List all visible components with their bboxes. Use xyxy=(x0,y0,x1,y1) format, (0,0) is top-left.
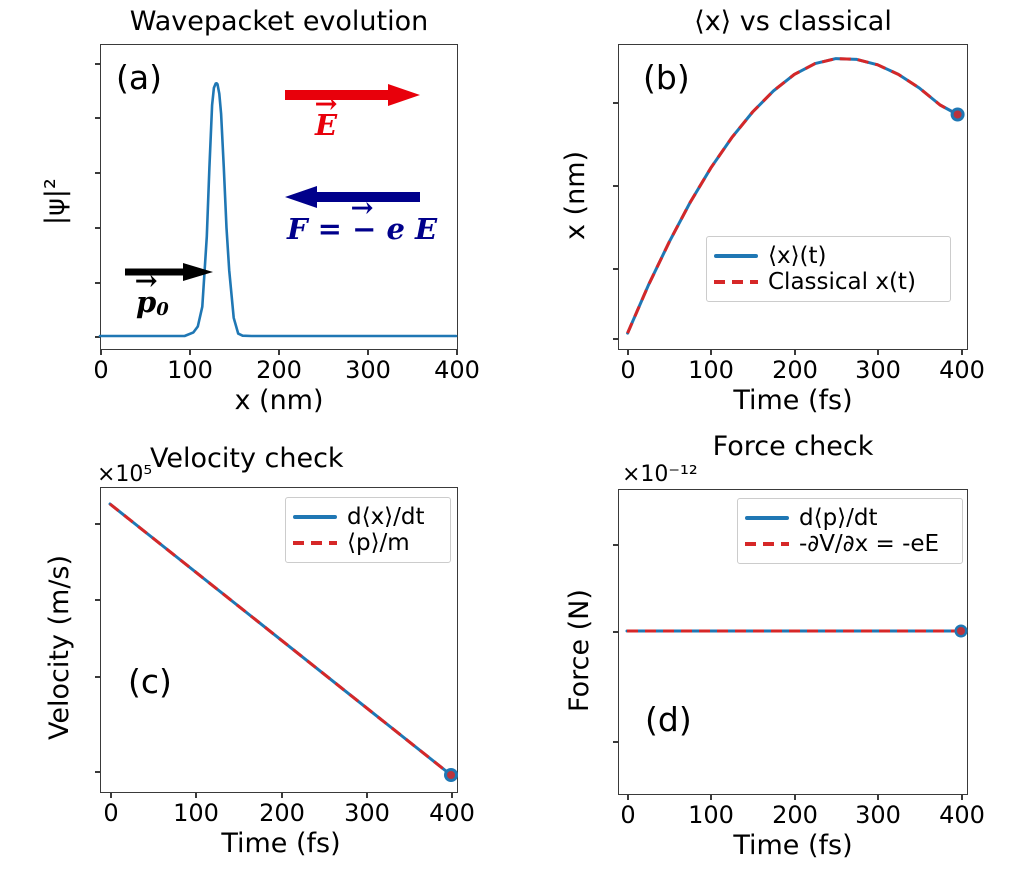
panel-a-tick-x0 xyxy=(100,350,102,355)
field-label: →E xyxy=(315,108,337,142)
legend-line-dashed-icon xyxy=(714,274,758,290)
panel-d-xtick-3: 300 xyxy=(855,801,901,829)
legend-line-solid-icon xyxy=(745,510,789,526)
panel-c-legend-row-1: ⟨p⟩/m xyxy=(293,530,441,556)
panel-c-legend-label-0: d⟨x⟩/dt xyxy=(347,506,425,529)
force-label: →F = − e E xyxy=(287,212,437,246)
figure-canvas: Wavepacket evolution (a) 0.0 0.2 0.4 0.6… xyxy=(0,0,1024,878)
panel-c-title: Velocity check xyxy=(150,443,450,474)
panel-a-ylabel: |ψ|² xyxy=(40,178,71,225)
momentum-label-subscript: 0 xyxy=(156,299,169,320)
panel-a-xtick-3: 300 xyxy=(345,356,391,384)
panel-b-legend[interactable]: ⟨x⟩(t) Classical x(t) xyxy=(706,236,951,302)
panel-c-legend-row-0: d⟨x⟩/dt xyxy=(293,504,441,530)
panel-c-xtick-1: 100 xyxy=(173,799,219,827)
panel-b-title: ⟨x⟩ vs classical xyxy=(618,6,968,37)
panel-c-tick-x0 xyxy=(110,793,112,798)
vector-arrow-icon: → xyxy=(351,195,374,223)
panel-b-legend-row-1: Classical x(t) xyxy=(714,269,941,295)
panel-d-tick-x0 xyxy=(627,795,629,800)
panel-b-xtick-1: 100 xyxy=(688,356,734,384)
panel-a-xtick-4: 400 xyxy=(434,356,480,384)
panel-b-curves xyxy=(618,44,968,350)
panel-c-tick-x1 xyxy=(195,793,197,798)
panel-d-xtick-1: 100 xyxy=(688,801,734,829)
panel-c-legend-label-1: ⟨p⟩/m xyxy=(347,532,410,555)
panel-b-xtick-4: 400 xyxy=(939,356,985,384)
panel-c-legend[interactable]: d⟨x⟩/dt ⟨p⟩/m xyxy=(285,497,451,563)
panel-c-xtick-2: 200 xyxy=(259,799,305,827)
field-arrow-icon xyxy=(285,82,425,108)
momentum-label: →p0 xyxy=(136,285,169,320)
legend-line-dashed-icon xyxy=(293,535,337,551)
panel-a-tick-x2 xyxy=(278,350,280,355)
panel-c-xtick-0: 0 xyxy=(103,799,118,827)
panel-b-xtick-0: 0 xyxy=(620,356,635,384)
panel-c-offset: ×10⁵ xyxy=(97,462,152,487)
panel-c-tick-x2 xyxy=(281,793,283,798)
panel-c-xlabel: Time (fs) xyxy=(221,828,340,859)
panel-c-ylabel: Velocity (m/s) xyxy=(44,555,75,740)
panel-b-xtick-3: 300 xyxy=(855,356,901,384)
panel-b-tick-x2 xyxy=(794,350,796,355)
panel-d-tick-x4 xyxy=(961,795,963,800)
panel-d-xtick-2: 200 xyxy=(772,801,818,829)
panel-d-legend-row-1: -∂V/∂x = -eE xyxy=(745,531,953,557)
legend-line-solid-icon xyxy=(293,509,337,525)
panel-a-xlabel: x (nm) xyxy=(234,385,323,416)
panel-a-xtick-0: 0 xyxy=(93,356,108,384)
panel-b-xlabel: Time (fs) xyxy=(733,385,852,416)
panel-b-legend-label-1: Classical x(t) xyxy=(768,271,916,294)
panel-d-ylabel: Force (N) xyxy=(564,589,595,712)
panel-a-xtick-1: 100 xyxy=(167,356,213,384)
panel-d-xlabel: Time (fs) xyxy=(733,830,852,861)
vector-arrow-icon: → xyxy=(135,268,158,296)
panel-d-title: Force check xyxy=(618,431,968,462)
panel-d-offset: ×10⁻¹² xyxy=(622,462,698,487)
panel-a-title: Wavepacket evolution xyxy=(100,6,458,37)
panel-b-xtick-2: 200 xyxy=(772,356,818,384)
panel-d-legend-label-0: d⟨p⟩/dt xyxy=(799,507,878,530)
panel-d-legend-row-0: d⟨p⟩/dt xyxy=(745,505,953,531)
panel-b-legend-label-0: ⟨x⟩(t) xyxy=(768,245,827,268)
panel-b-tick-x0 xyxy=(627,350,629,355)
legend-line-dashed-icon xyxy=(745,536,789,552)
panel-d-tick-x1 xyxy=(710,795,712,800)
panel-a-tick-x4 xyxy=(456,350,458,355)
panel-b-ylabel: x (nm) xyxy=(560,151,591,240)
panel-c-tick-x3 xyxy=(366,793,368,798)
panel-d-legend-label-1: -∂V/∂x = -eE xyxy=(799,533,939,556)
panel-c-tick-x4 xyxy=(451,793,453,798)
legend-line-solid-icon xyxy=(714,248,758,264)
panel-b-legend-row-0: ⟨x⟩(t) xyxy=(714,243,941,269)
panel-d-legend[interactable]: d⟨p⟩/dt -∂V/∂x = -eE xyxy=(737,498,963,564)
panel-a-tick-x3 xyxy=(367,350,369,355)
panel-b-tick-x1 xyxy=(710,350,712,355)
vector-arrow-icon: → xyxy=(315,91,338,119)
panel-a-tick-x1 xyxy=(189,350,191,355)
panel-d-tick-x2 xyxy=(794,795,796,800)
panel-b-tick-x3 xyxy=(877,350,879,355)
panel-c-xtick-4: 400 xyxy=(429,799,475,827)
panel-c-xtick-3: 300 xyxy=(344,799,390,827)
panel-d-xtick-0: 0 xyxy=(620,801,635,829)
panel-b-tick-x4 xyxy=(961,350,963,355)
panel-a-xtick-2: 200 xyxy=(256,356,302,384)
panel-d-tick-x3 xyxy=(877,795,879,800)
panel-d-xtick-4: 400 xyxy=(939,801,985,829)
